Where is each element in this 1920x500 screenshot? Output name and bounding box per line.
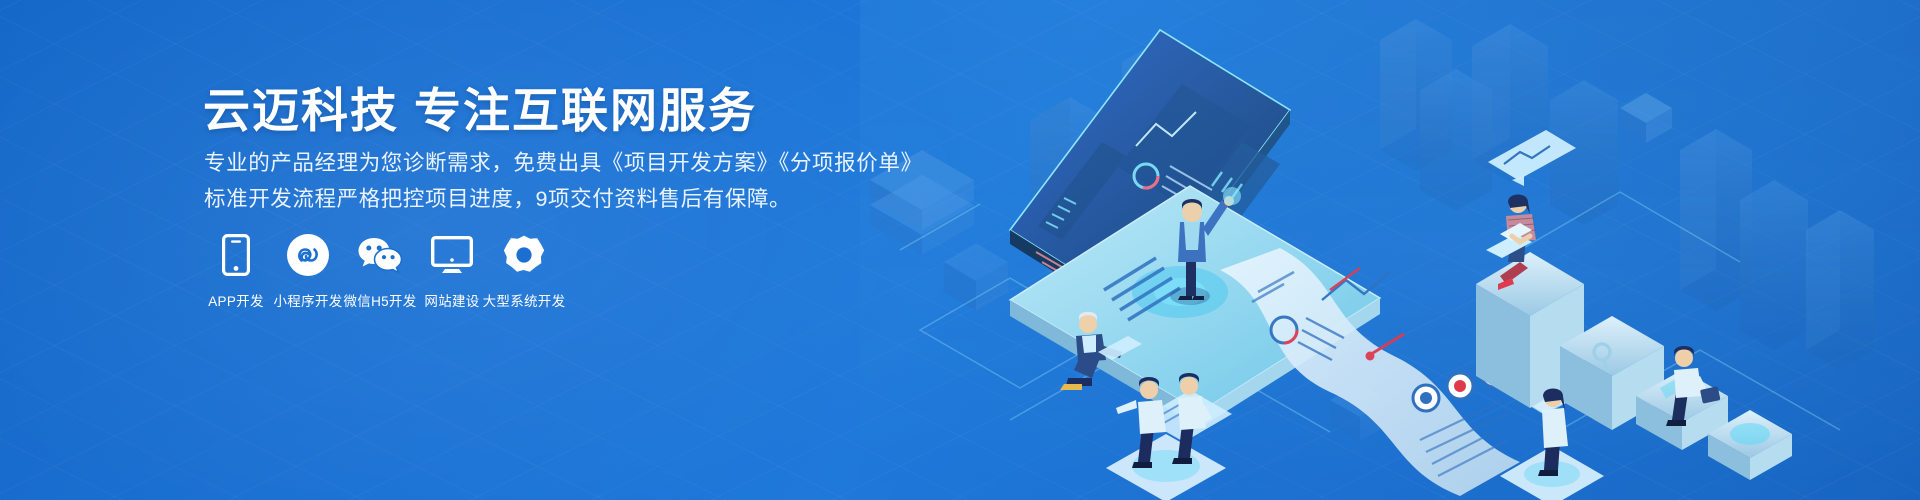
service-label: 微信H5开发	[343, 290, 416, 310]
service-item-website[interactable]: 网站建设	[416, 232, 488, 310]
service-icon-row: APP开发 小程序开发	[200, 232, 560, 310]
service-label: APP开发	[208, 290, 264, 310]
page-title: 云迈科技 专注互联网服务	[203, 72, 757, 141]
mini-program-icon	[287, 232, 329, 278]
wechat-icon	[357, 232, 403, 278]
gear-icon	[503, 232, 545, 278]
service-item-app[interactable]: APP开发	[200, 232, 272, 310]
service-label: 大型系统开发	[483, 290, 566, 310]
service-label: 小程序开发	[274, 290, 343, 310]
service-item-mini-program[interactable]: 小程序开发	[272, 232, 344, 310]
monitor-icon	[431, 232, 473, 278]
service-item-wechat-h5[interactable]: 微信H5开发	[344, 232, 416, 310]
promo-banner: 云迈科技 专注互联网服务 专业的产品经理为您诊断需求，免费出具《项目开发方案》《…	[0, 0, 1920, 500]
banner-content: 云迈科技 专注互联网服务 专业的产品经理为您诊断需求，免费出具《项目开发方案》《…	[200, 0, 960, 500]
mobile-phone-icon	[222, 232, 250, 278]
subtitle-line-2: 标准开发流程严格把控项目进度，9项交付资料售后有保障。	[204, 182, 791, 213]
subtitle-line-1: 专业的产品经理为您诊断需求，免费出具《项目开发方案》《分项报价单》	[204, 146, 923, 177]
isometric-illustration	[860, 0, 1920, 500]
service-item-large-system[interactable]: 大型系统开发	[488, 232, 560, 310]
service-label: 网站建设	[424, 290, 479, 310]
